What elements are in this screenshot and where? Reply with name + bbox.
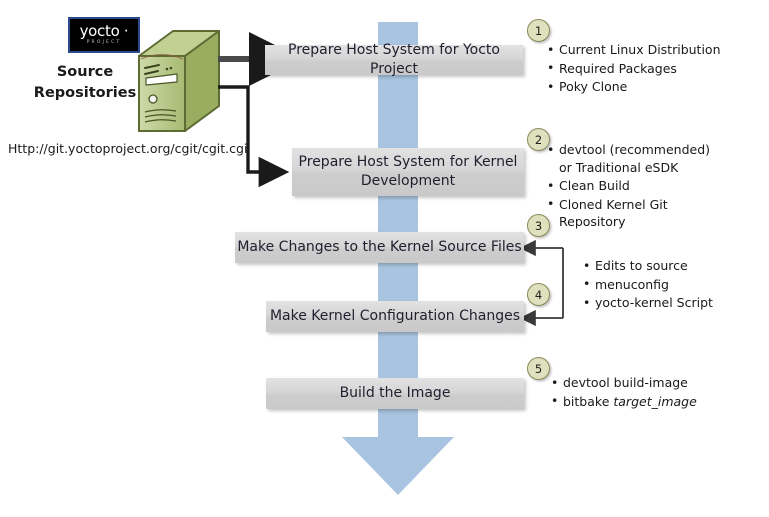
step-number-badge-1: 1 [527, 19, 550, 42]
step-2-bullet-list: devtool (recommended) or Traditional eSD… [546, 141, 726, 232]
yocto-logo-wordmark: yocto · [80, 24, 129, 39]
step-number-4: 4 [535, 288, 542, 302]
arrow-server-to-step2 [218, 87, 262, 172]
step-number-badge-4: 4 [527, 283, 550, 306]
list-item: bitbake target_image [550, 393, 750, 411]
yocto-logo-subtext: PROJECT [87, 41, 122, 46]
process-box-step-2[interactable]: Prepare Host System for Kernel Developme… [292, 148, 524, 196]
step-number-badge-3: 3 [527, 214, 550, 237]
bitbake-command-prefix: bitbake [563, 394, 613, 409]
list-item: Required Packages [546, 60, 751, 78]
step-number-2: 2 [535, 133, 542, 147]
main-flow-arrow-head [342, 437, 454, 495]
step-number-1: 1 [535, 24, 542, 38]
source-repositories-label: Source Repositories [22, 62, 148, 104]
process-box-step-5[interactable]: Build the Image [266, 378, 524, 409]
list-item: Clean Build [546, 177, 726, 195]
process-box-step-4[interactable]: Make Kernel Configuration Changes [266, 301, 524, 332]
steps-3-4-bullet-list: Edits to source menuconfig yocto-kernel … [582, 257, 757, 313]
list-item: devtool (recommended) or Traditional eSD… [546, 141, 726, 176]
source-repositories-label-line1: Source [22, 62, 148, 83]
step-5-bullet-list: devtool build-image bitbake target_image [550, 374, 750, 411]
process-box-step-2-label: Prepare Host System for Kernel Developme… [292, 153, 524, 191]
list-item: menuconfig [582, 276, 757, 294]
step-1-bullet-list: Current Linux Distribution Required Pack… [546, 41, 751, 97]
list-item: yocto-kernel Script [582, 294, 757, 312]
source-repository-url: Http://git.yoctoproject.org/cgit/cgit.cg… [8, 141, 247, 156]
kernel-development-flow-diagram: yocto · PROJECT Source Repositories Http… [0, 0, 769, 517]
bitbake-target-image-arg: target_image [613, 394, 696, 409]
source-repositories-label-line2: Repositories [22, 83, 148, 104]
list-item: Cloned Kernel Git Repository [546, 196, 726, 231]
yocto-project-logo: yocto · PROJECT [68, 17, 140, 53]
step-number-badge-5: 5 [527, 357, 550, 380]
list-item: Current Linux Distribution [546, 41, 751, 59]
process-box-step-4-label: Make Kernel Configuration Changes [270, 307, 520, 326]
list-item: Poky Clone [546, 78, 751, 96]
process-box-step-5-label: Build the Image [340, 384, 451, 403]
main-flow-arrow-shaft [378, 22, 418, 438]
server-tower-icon [136, 28, 222, 134]
list-item: devtool build-image [550, 374, 750, 392]
process-box-step-3[interactable]: Make Changes to the Kernel Source Files [235, 232, 524, 263]
step-number-5: 5 [535, 362, 542, 376]
list-item: Edits to source [582, 257, 757, 275]
process-box-step-1[interactable]: Prepare Host System for Yocto Project [265, 45, 523, 75]
process-box-step-3-label: Make Changes to the Kernel Source Files [237, 238, 521, 257]
process-box-step-1-label: Prepare Host System for Yocto Project [265, 41, 523, 79]
step-number-3: 3 [535, 219, 542, 233]
